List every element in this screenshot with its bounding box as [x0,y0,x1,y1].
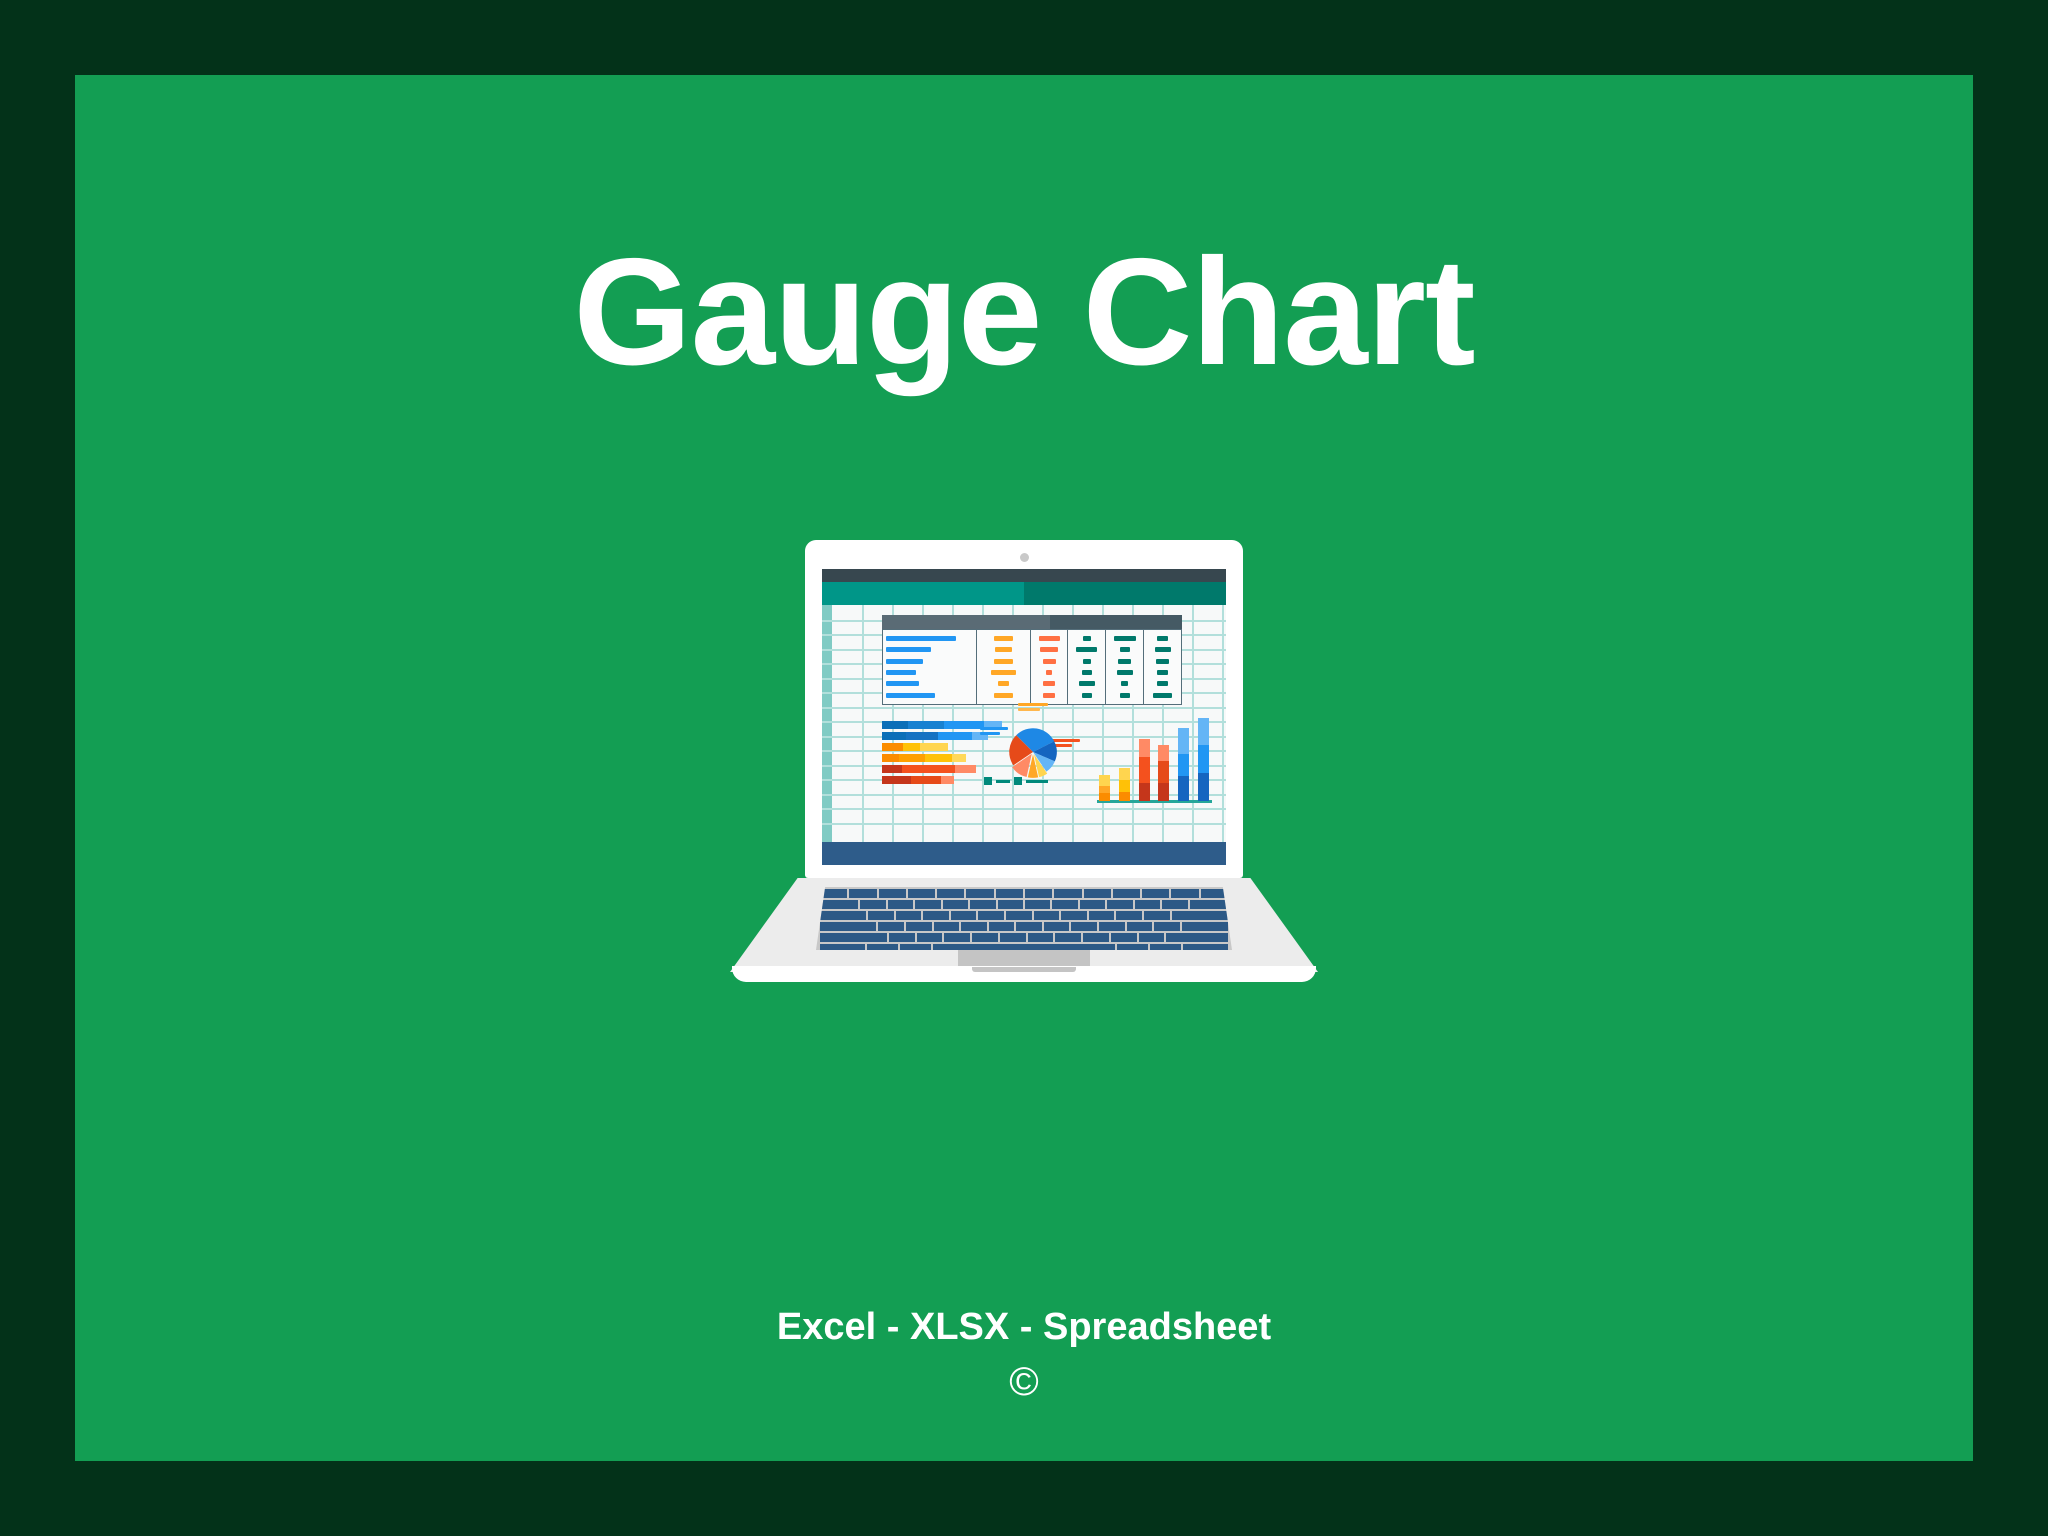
keyboard-key[interactable] [888,900,913,909]
table-cell [1046,670,1052,675]
keyboard-key[interactable] [934,922,960,931]
keyboard-key[interactable] [1044,922,1070,931]
table-cell [1114,636,1136,641]
keyboard-key[interactable] [1127,922,1153,931]
bar-segment [1198,718,1209,746]
keyboard-key[interactable] [1190,900,1228,909]
slide-panel: Gauge Chart [75,75,1973,1461]
bar-segment [906,732,938,740]
table-columns [882,629,1182,705]
legend-blue-left [980,727,1008,737]
keyboard-key[interactable] [868,911,894,920]
table-cell [1082,693,1092,698]
keyboard-key[interactable] [820,900,858,909]
bar-segment [1139,739,1150,757]
bar-column [1178,728,1189,801]
bar-segment [1139,757,1150,783]
table-cell [998,681,1009,686]
data-table [882,615,1182,705]
table-cell [1157,670,1167,675]
keyboard-row [818,911,1230,920]
table-cell [1082,670,1092,675]
grid-line-v [1222,605,1224,842]
bar-segment [944,721,984,729]
bar-segment [882,743,903,751]
keyboard-key[interactable] [1135,900,1160,909]
bar-segment [925,754,951,762]
keyboard-key[interactable] [820,911,866,920]
keyboard-key[interactable] [849,889,876,898]
bar-row [882,743,948,751]
keyboard-key[interactable] [1084,889,1111,898]
keyboard-key[interactable] [996,889,1023,898]
laptop-base-lip [732,966,1316,982]
bar-segment [1198,745,1209,773]
table-cell [1043,681,1055,686]
table-cell [991,670,1015,675]
bar-segment [1119,768,1130,780]
keyboard-key[interactable] [1083,933,1109,942]
keyboard-key[interactable] [1055,933,1081,942]
table-cell [1156,659,1169,664]
bar-column [1139,739,1150,801]
bar-segment [911,776,940,784]
table-column [883,630,977,704]
bar-segment [941,776,954,784]
legend-swatch [980,732,1000,735]
grid-line-v [862,605,864,842]
table-column [1031,630,1069,704]
keyboard-key[interactable] [1166,933,1228,942]
laptop-front-notch [972,967,1076,972]
table-cell [1083,636,1090,641]
table-cell [1157,636,1169,641]
legend-swatch [1018,708,1040,711]
bar-segment [920,743,948,751]
keyboard-key[interactable] [1000,933,1026,942]
legend-orange-top [1018,703,1048,713]
keyboard-key[interactable] [917,933,943,942]
keyboard-row [818,922,1230,931]
laptop-base [730,878,1318,982]
table-cell [1120,693,1130,698]
keyboard-key[interactable] [1061,911,1087,920]
table-cell [994,636,1013,641]
keyboard-key[interactable] [1154,922,1180,931]
page-title: Gauge Chart [75,233,1973,393]
keyboard-key[interactable] [970,900,995,909]
table-cell [1118,659,1131,664]
bar-segment [908,721,944,729]
footer-caption: Excel - XLSX - Spreadsheet [75,1305,1973,1351]
keyboard-key[interactable] [923,911,949,920]
bar-segment [1099,775,1110,785]
spreadsheet-statusbar [822,842,1226,865]
bar-column [1158,745,1169,801]
bar-segment [1139,783,1150,801]
slide-root: Gauge Chart [0,0,2048,1536]
bar-segment [1158,745,1169,760]
bar-segment [882,721,908,729]
keyboard-key[interactable] [972,933,998,942]
keyboard-key[interactable] [1080,900,1105,909]
keyboard-key[interactable] [1099,922,1125,931]
keyboard-key[interactable] [1006,911,1032,920]
table-cell [1040,647,1058,652]
keyboard-key[interactable] [1025,889,1052,898]
table-cell [1153,693,1172,698]
table-column [977,630,1030,704]
table-cell [1120,647,1130,652]
keyboard-key[interactable] [1016,922,1042,931]
spreadsheet-row-header [822,605,832,842]
keyboard-key[interactable] [820,933,887,942]
laptop-keyboard[interactable] [816,887,1232,950]
table-cell [1043,693,1055,698]
keyboard-key[interactable] [966,889,993,898]
bar-segment [952,754,966,762]
bar-row [882,765,976,773]
table-cell [886,659,923,664]
table-cell [994,693,1013,698]
keyboard-row [818,933,1230,942]
spreadsheet-grid [822,605,1226,842]
spreadsheet-ribbon-dark [1024,582,1226,605]
table-cell [886,670,916,675]
keyboard-key[interactable] [951,911,977,920]
keyboard-key[interactable] [906,922,932,931]
table-cell [1076,647,1097,652]
table-cell [994,659,1013,664]
keyboard-key[interactable] [998,900,1023,909]
table-column [1106,630,1144,704]
keyboard-key[interactable] [1052,900,1077,909]
keyboard-key[interactable] [915,900,940,909]
keyboard-key[interactable] [878,922,904,931]
keyboard-key[interactable] [1107,900,1132,909]
keyboard-key[interactable] [1111,933,1137,942]
laptop-lid [805,540,1243,878]
keyboard-key[interactable] [1171,889,1198,898]
table-cell [886,647,931,652]
bar-segment [1158,761,1169,783]
keyboard-key[interactable] [1182,922,1228,931]
keyboard-key[interactable] [1025,900,1050,909]
keyboard-key[interactable] [879,889,906,898]
keyboard-key[interactable] [1139,933,1165,942]
table-column [1144,630,1181,704]
legend-swatch [980,727,1008,730]
bar-column [1119,768,1130,801]
table-cell [1043,659,1056,664]
keyboard-key[interactable] [1116,911,1142,920]
bar-segment [1099,793,1110,801]
bar-segment [1178,754,1189,776]
bar-segment [955,765,976,773]
keyboard-row [818,889,1230,898]
keyboard-key[interactable] [1172,911,1228,920]
table-cell [1117,670,1133,675]
keyboard-key[interactable] [1089,911,1115,920]
grid-line-h [822,823,1226,825]
bar-segment [882,776,911,784]
table-header-row [882,615,1182,629]
keyboard-key[interactable] [1028,933,1054,942]
table-cell [1039,636,1060,641]
spreadsheet-ribbon [822,582,1226,605]
bar-segment [938,732,972,740]
keyboard-key[interactable] [1034,911,1060,920]
keyboard-key[interactable] [989,922,1015,931]
bar-segment [899,754,925,762]
keyboard-key[interactable] [1071,922,1097,931]
table-cell [1121,681,1128,686]
bar-segment [1119,780,1130,791]
keyboard-key[interactable] [820,922,876,931]
table-cell [995,647,1013,652]
bar-segment [1158,783,1169,801]
laptop-screen [822,569,1226,865]
bar-segment [1178,776,1189,801]
grid-line-h [822,808,1226,810]
slide-footer: Excel - XLSX - Spreadsheet © [75,1305,1973,1407]
bar-segment [902,765,955,773]
table-cell [886,636,956,641]
keyboard-key[interactable] [943,900,968,909]
bar-segment [882,765,902,773]
vertical-bar-chart [1099,715,1209,801]
keyboard-key[interactable] [908,889,935,898]
bar-column [1198,718,1209,801]
spreadsheet-titlebar [822,569,1226,582]
table-cell [1083,659,1092,664]
keyboard-key[interactable] [944,933,970,942]
keyboard-key[interactable] [889,933,915,942]
table-cell [1157,681,1169,686]
bar-column [1099,775,1110,801]
table-cell [1079,681,1095,686]
keyboard-row [818,900,1230,909]
bar-row [882,732,988,740]
keyboard-key[interactable] [860,900,885,909]
keyboard-key[interactable] [1054,889,1081,898]
keyboard-key[interactable] [1142,889,1169,898]
bar-segment [903,743,920,751]
keyboard-key[interactable] [896,911,922,920]
table-cell [886,681,919,686]
keyboard-key[interactable] [978,911,1004,920]
table-cell [886,693,935,698]
keyboard-key[interactable] [1162,900,1187,909]
keyboard-key[interactable] [1113,889,1140,898]
copyright-icon: © [75,1357,1973,1407]
bar-segment [1198,773,1209,801]
keyboard-key[interactable] [961,922,987,931]
table-header-dark [1050,615,1182,629]
pie-chart [1006,725,1060,779]
table-column [1068,630,1106,704]
bar-segment [882,754,899,762]
webcam-icon [1020,553,1029,562]
laptop-illustration [730,540,1318,1005]
table-cell [1155,647,1171,652]
bar-segment [882,732,906,740]
keyboard-key[interactable] [1144,911,1170,920]
bar-segment [1099,786,1110,794]
bar-segment [1178,728,1189,754]
bar-segment [1119,792,1130,801]
bar-row [882,776,954,784]
keyboard-key[interactable] [937,889,964,898]
bar-row [882,754,966,762]
legend-swatch [1018,703,1048,706]
